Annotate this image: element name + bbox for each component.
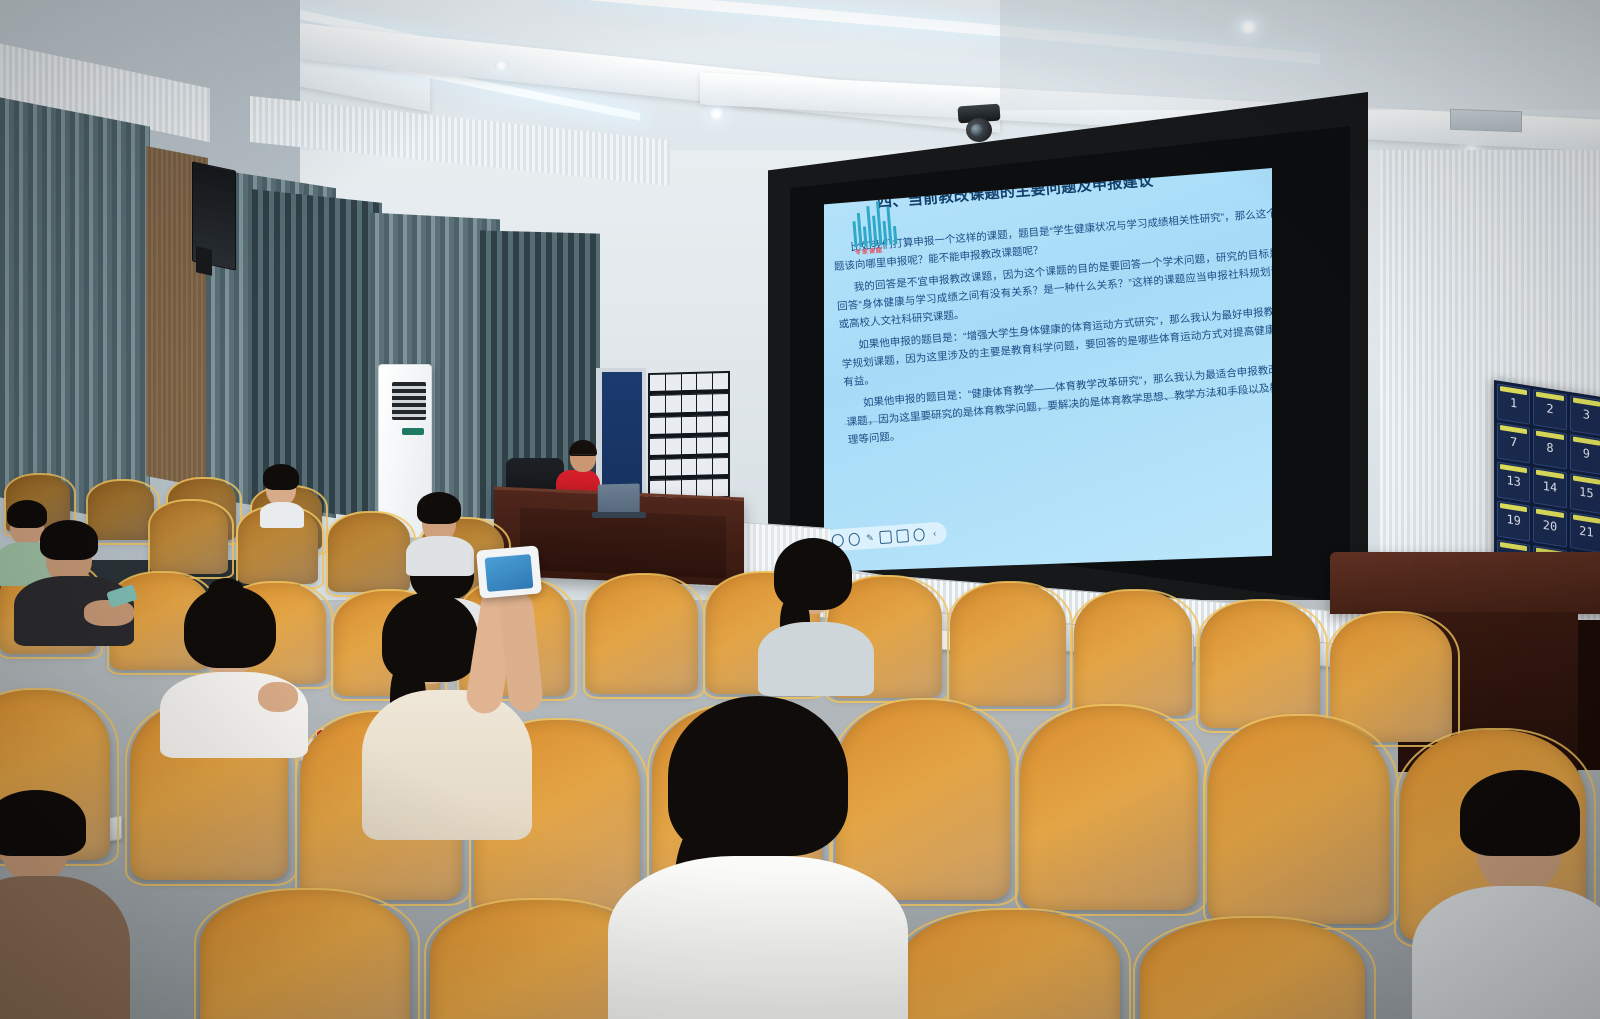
- number-cell: 9: [1570, 434, 1600, 475]
- phone-pocket: [713, 373, 728, 394]
- ceiling-downlight-4: [1239, 20, 1258, 34]
- screenshot-icon[interactable]: [879, 530, 892, 544]
- seat[interactable]: [150, 500, 228, 574]
- presenter-desk-front-panel: [520, 508, 726, 579]
- number-cell-label: 2: [1534, 399, 1565, 418]
- podium-top: [1330, 552, 1600, 614]
- phone-pocket: [650, 396, 665, 417]
- number-cell: 21: [1570, 512, 1600, 553]
- phone-pocket: [666, 459, 681, 480]
- raised-phone-screen: [485, 554, 534, 592]
- ceiling-downlight-5: [494, 60, 509, 71]
- phone-pocket: [697, 459, 712, 480]
- phone-pocket: [697, 373, 712, 394]
- person-arm: [258, 682, 298, 712]
- phone-pocket: [682, 438, 697, 459]
- number-cell: 8: [1533, 428, 1566, 469]
- number-cell-label: 14: [1534, 477, 1565, 496]
- seat[interactable]: [1140, 918, 1365, 1019]
- seat[interactable]: [1208, 716, 1390, 924]
- number-cell: 2: [1533, 389, 1566, 430]
- ceiling-downlight-1: [708, 108, 725, 120]
- person-body: [1412, 886, 1600, 1019]
- air-conditioner-grill-icon: [392, 382, 426, 420]
- audience-member: [1430, 770, 1600, 1019]
- projected-slide[interactable]: 四、当前教改课题的主要问题及申报建议 专家课题 比如我们打算申报一个这样的课题，…: [824, 168, 1272, 572]
- seat[interactable]: [900, 910, 1120, 1019]
- number-cell: 1: [1497, 383, 1530, 424]
- phone-pocket: [650, 375, 665, 396]
- phone-pocket: [650, 460, 665, 481]
- number-cell-label: 15: [1571, 483, 1600, 502]
- number-cell: 15: [1570, 473, 1600, 514]
- person-body: [0, 876, 130, 1019]
- phone-pocket: [650, 417, 665, 438]
- number-cell-label: 3: [1571, 405, 1600, 424]
- person-hair: [417, 492, 461, 524]
- phone-pocket: [682, 459, 697, 480]
- ceiling-vent-3: [1450, 109, 1522, 133]
- air-conditioner-display: [402, 428, 424, 435]
- audience-member: [760, 538, 870, 678]
- person-body: [260, 502, 304, 528]
- phone-pocket: [697, 437, 712, 458]
- person-hair: [1460, 770, 1580, 856]
- erase-icon[interactable]: [913, 527, 926, 541]
- phone-pocket: [713, 458, 728, 479]
- audience-member: [408, 492, 470, 564]
- phone-pocket: [713, 416, 728, 437]
- person-hair: [0, 790, 86, 856]
- audience-member: [258, 462, 306, 522]
- audience-member: [0, 790, 120, 1019]
- seat[interactable]: [1074, 590, 1192, 716]
- phone-pocket: [682, 395, 697, 416]
- phone-pocket: [682, 416, 697, 437]
- number-cell-label: 9: [1571, 444, 1600, 463]
- phone-pocket: [697, 395, 712, 416]
- slide-body: 比如我们打算申报一个这样的课题，题目是“学生健康状况与学习成绩相关性研究”，那么…: [832, 204, 1272, 450]
- number-cell: 20: [1533, 506, 1566, 547]
- phone-pocket: [713, 394, 728, 415]
- number-cell-label: 20: [1534, 516, 1565, 535]
- person-hair: [40, 520, 98, 560]
- phone-pocket: [713, 437, 728, 458]
- seat[interactable]: [200, 890, 410, 1019]
- number-cell-label: 13: [1498, 472, 1529, 491]
- person-body: [406, 536, 474, 576]
- audience-member: [618, 696, 918, 1019]
- audience-member: [166, 586, 296, 736]
- seat[interactable]: [1200, 600, 1320, 728]
- phone-pocket: [650, 438, 665, 459]
- collapse-chevron-icon[interactable]: ‹: [929, 527, 939, 539]
- slide-decoration-bars: [851, 198, 898, 247]
- number-cell-label: 21: [1571, 522, 1600, 541]
- person-body: [608, 856, 908, 1019]
- number-cell: 19: [1497, 500, 1530, 541]
- lecture-hall-photo: 四、当前教改课题的主要问题及申报建议 专家课题 比如我们打算申报一个这样的课题，…: [0, 0, 1600, 1019]
- person-body: [362, 690, 532, 840]
- number-cell-label: 8: [1534, 438, 1565, 457]
- ceiling-recess-right: [1000, 0, 1600, 110]
- audience-member: [356, 592, 536, 822]
- number-cell-label: 19: [1498, 511, 1529, 530]
- person-hair-bun: [208, 578, 244, 604]
- phone-pocket: [666, 396, 681, 417]
- number-cell-label: 7: [1498, 433, 1529, 452]
- laptop-screen[interactable]: [598, 483, 640, 514]
- seat[interactable]: [950, 582, 1066, 706]
- camera-lens-icon: [971, 124, 983, 136]
- number-cell: 14: [1533, 467, 1566, 508]
- phone-pocket: [697, 416, 712, 437]
- number-cell: 13: [1497, 461, 1530, 502]
- phone-pocket: [666, 438, 681, 459]
- seat[interactable]: [586, 574, 698, 694]
- audience-member: [22, 518, 142, 628]
- glasses-icon: [572, 454, 594, 460]
- phone-pocket: [666, 374, 681, 395]
- whiteboard-icon[interactable]: [896, 529, 909, 543]
- laptop-base[interactable]: [592, 512, 646, 518]
- person-hair: [263, 464, 299, 490]
- number-cell: 3: [1570, 395, 1600, 436]
- number-cell: 7: [1497, 422, 1530, 463]
- phone-pocket: [666, 417, 681, 438]
- seat[interactable]: [1020, 706, 1198, 910]
- person-body: [758, 622, 874, 696]
- phone-pocket: [682, 374, 697, 395]
- speaker-bracket: [196, 246, 212, 275]
- number-cell-label: 1: [1498, 394, 1529, 413]
- curtain-left-a: [0, 97, 150, 526]
